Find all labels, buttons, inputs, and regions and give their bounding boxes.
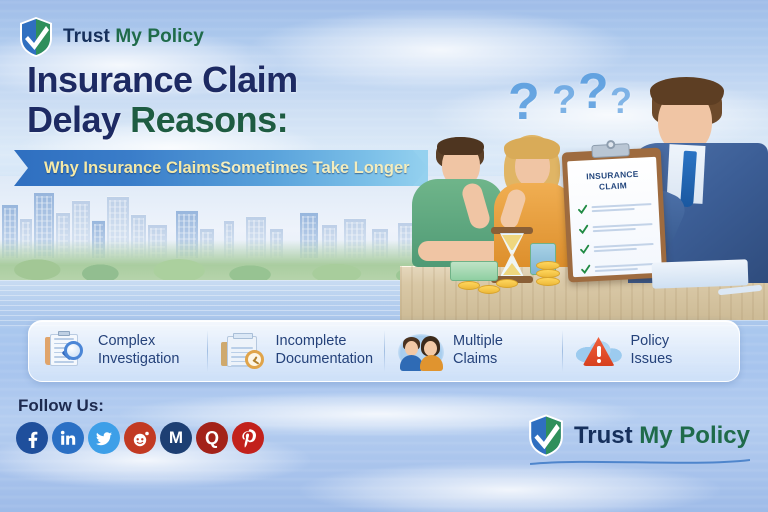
- clipboard-title-line1: INSURANCE: [586, 169, 639, 182]
- clipboard-check-row: [578, 219, 653, 236]
- follow-us-label: Follow Us:: [18, 396, 104, 416]
- social-link-pinterest[interactable]: [232, 422, 264, 454]
- title-reasons: Reasons:: [130, 99, 288, 140]
- brand-wordmark: Trust My Policy: [63, 26, 204, 48]
- feature-label: Multiple Claims: [453, 333, 503, 368]
- footer-logo[interactable]: Trust My Policy: [527, 413, 750, 458]
- feature-label-line1: Incomplete: [276, 333, 374, 351]
- feature-label: Complex Investigation: [98, 333, 179, 368]
- social-link-quora[interactable]: Q: [196, 422, 228, 454]
- brand-word-trust: Trust: [574, 422, 639, 449]
- social-link-linkedin[interactable]: [52, 422, 84, 454]
- feature-bar: Complex Investigation Incomplete Documen…: [28, 320, 740, 382]
- brand-word-mypolicy: My Policy: [115, 26, 204, 47]
- warning-triangle-icon: [576, 330, 622, 372]
- subtitle-strong: Why Insurance Claims: [44, 159, 220, 178]
- cash-stack: [450, 261, 498, 281]
- brand-word-mypolicy: My Policy: [639, 422, 750, 449]
- social-link-facebook[interactable]: [16, 422, 48, 454]
- clipboard-check-row: [579, 239, 654, 256]
- feature-label-line1: Policy: [631, 333, 673, 351]
- gold-coin: [536, 277, 560, 286]
- subtitle-soft: Sometimes Take Longer: [220, 159, 410, 178]
- reddit-icon: [130, 428, 150, 448]
- title-line-2: Delay Reasons:: [27, 102, 298, 139]
- hero-illustration: INSURANCE CLAIM: [400, 55, 768, 320]
- feature-item-incomplete-documentation[interactable]: Incomplete Documentation: [207, 321, 385, 381]
- feature-label: Policy Issues: [631, 333, 673, 368]
- brand-word-trust: Trust: [63, 26, 115, 47]
- social-link-medium[interactable]: M: [160, 422, 192, 454]
- check-icon: [581, 264, 592, 275]
- feature-label-line2: Investigation: [98, 351, 179, 369]
- twitter-bird-icon: [94, 428, 114, 448]
- facebook-icon: [22, 428, 42, 448]
- medium-icon: M: [169, 428, 183, 448]
- title-line-1: Insurance Claim: [27, 62, 298, 99]
- feature-item-complex-investigation[interactable]: Complex Investigation: [29, 321, 207, 381]
- clipboard: INSURANCE CLAIM: [562, 147, 668, 282]
- header-logo[interactable]: Trust My Policy: [18, 16, 204, 58]
- clipboard-paper: INSURANCE CLAIM: [567, 157, 662, 277]
- quora-icon: Q: [205, 428, 219, 449]
- infographic-canvas: Trust My Policy Insurance Claim Delay Re…: [0, 0, 768, 512]
- feature-item-policy-issues[interactable]: Policy Issues: [562, 321, 740, 381]
- clipboard-check-row: [577, 199, 652, 216]
- social-link-twitter[interactable]: [88, 422, 120, 454]
- gold-coin: [458, 281, 480, 290]
- documents-clock-icon: [221, 330, 267, 372]
- feature-label: Incomplete Documentation: [276, 333, 374, 368]
- clipboard-title-line2: CLAIM: [599, 180, 628, 191]
- shield-check-icon: [527, 413, 565, 458]
- check-icon: [577, 204, 588, 215]
- feature-label-line2: Claims: [453, 351, 503, 369]
- check-icon: [578, 224, 589, 235]
- subtitle-text: Why Insurance Claims Sometimes Take Long…: [44, 150, 410, 186]
- shield-check-icon: [18, 16, 54, 58]
- pinterest-icon: [239, 429, 258, 448]
- magnifier-document-icon: [43, 330, 89, 372]
- gold-coin: [478, 285, 500, 294]
- social-link-reddit[interactable]: [124, 422, 156, 454]
- brand-wordmark: Trust My Policy: [574, 422, 750, 450]
- clipboard-check-row: [580, 259, 655, 276]
- check-icon: [579, 244, 590, 255]
- feature-label-line2: Documentation: [276, 351, 374, 369]
- feature-label-line2: Issues: [631, 351, 673, 369]
- feature-label-line1: Complex: [98, 333, 179, 351]
- feature-label-line1: Multiple: [453, 333, 503, 351]
- clipboard-title: INSURANCE CLAIM: [568, 168, 658, 194]
- gold-coin: [496, 279, 518, 288]
- title-delay: Delay: [27, 99, 130, 140]
- social-links: M Q: [16, 422, 264, 454]
- hourglass-icon: [495, 227, 529, 283]
- page-title: Insurance Claim Delay Reasons:: [27, 62, 298, 138]
- paper-stack: [652, 259, 749, 288]
- footer-swoosh: [530, 458, 750, 467]
- linkedin-icon: [58, 428, 78, 448]
- feature-item-multiple-claims[interactable]: Multiple Claims: [384, 321, 562, 381]
- two-people-icon: [398, 330, 444, 372]
